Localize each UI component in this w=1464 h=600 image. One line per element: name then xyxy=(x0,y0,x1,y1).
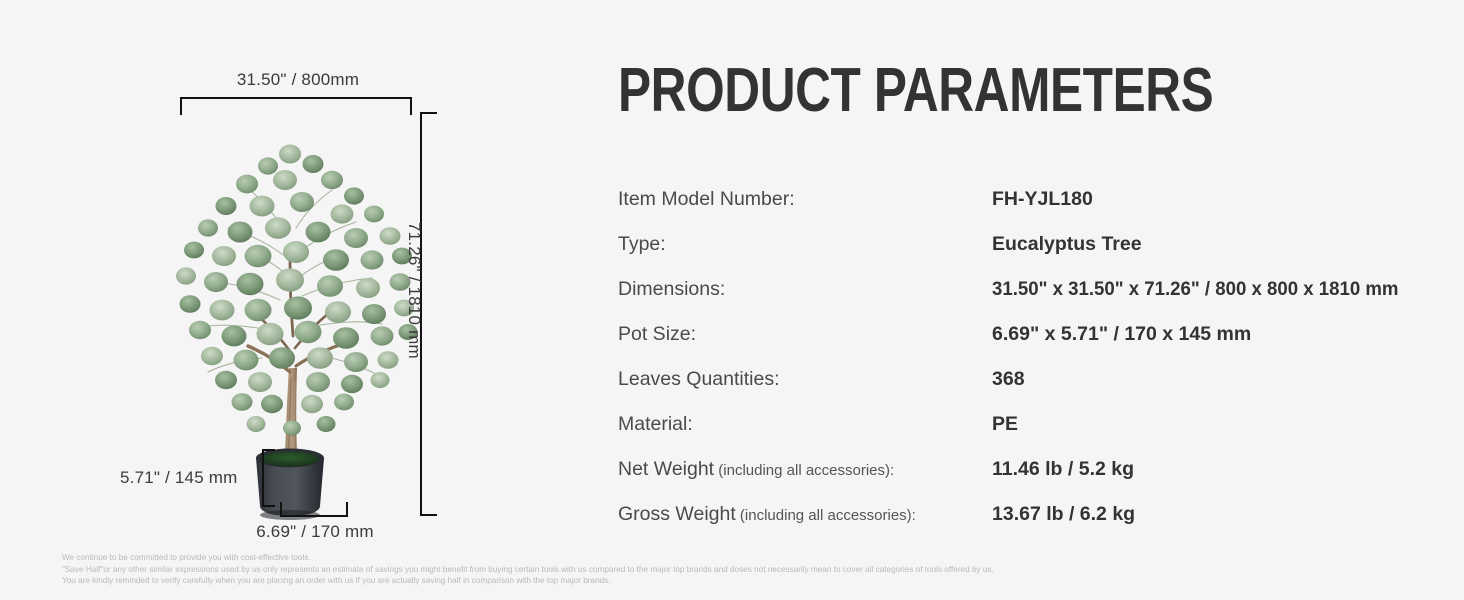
spec-label-text: Gross Weight xyxy=(618,503,736,525)
plant-pot xyxy=(256,449,324,521)
spec-label: Item Model Number: xyxy=(618,188,992,211)
tree-foliage xyxy=(176,145,418,436)
spec-label-text: Type: xyxy=(618,233,666,255)
spec-label: Net Weight (including all accessories): xyxy=(618,458,992,481)
spec-label-text: Material: xyxy=(618,413,693,435)
pot-width-bracket-left-cap xyxy=(280,502,282,517)
page-title: PRODUCT PARAMETERS xyxy=(618,60,1213,122)
product-image-panel: 31.50" / 800mm 71.26" / 1810 mm 5.71" / … xyxy=(0,0,600,600)
spec-row: Pot Size:6.69" x 5.71" / 170 x 145 mm xyxy=(618,323,1464,368)
spec-value: 31.50" x 31.50" x 71.26" / 800 x 800 x 1… xyxy=(992,278,1399,301)
pot-height-bracket-line xyxy=(262,449,264,507)
width-dimension-label: 31.50" / 800mm xyxy=(178,70,418,90)
width-bracket-right-cap xyxy=(410,97,412,115)
eucalyptus-tree-illustration xyxy=(150,110,440,520)
legal-disclaimer: We continue to be committed to provide y… xyxy=(62,552,1312,587)
spec-row: Gross Weight (including all accessories)… xyxy=(618,503,1464,548)
spec-value: PE xyxy=(992,413,1018,436)
pot-width-bracket-right-cap xyxy=(346,502,348,517)
spec-value: 11.46 lb / 5.2 kg xyxy=(992,458,1134,481)
height-bracket-bottom-cap xyxy=(420,514,437,516)
spec-label-note: (including all accessories): xyxy=(736,507,916,524)
spec-value: 13.67 lb / 6.2 kg xyxy=(992,503,1135,526)
spec-row: Material:PE xyxy=(618,413,1464,458)
spec-label-text: Leaves Quantities: xyxy=(618,368,780,390)
pot-height-bracket-bottom-cap xyxy=(262,505,275,507)
spec-label-text: Pot Size: xyxy=(618,323,696,345)
height-bracket-top-cap xyxy=(420,112,437,114)
spec-label: Type: xyxy=(618,233,992,256)
spec-label-text: Net Weight xyxy=(618,458,714,480)
pot-height-dimension-label: 5.71" / 145 mm xyxy=(120,468,238,488)
spec-row: Leaves Quantities:368 xyxy=(618,368,1464,413)
width-bracket-line xyxy=(180,97,412,99)
spec-label: Pot Size: xyxy=(618,323,992,346)
disclaimer-line-1: We continue to be committed to provide y… xyxy=(62,552,1312,564)
width-bracket-left-cap xyxy=(180,97,182,115)
spec-row: Dimensions:31.50" x 31.50" x 71.26" / 80… xyxy=(618,278,1464,323)
spec-label: Leaves Quantities: xyxy=(618,368,992,391)
spec-label-text: Item Model Number: xyxy=(618,188,795,210)
parameters-panel: PRODUCT PARAMETERS Item Model Number:FH-… xyxy=(600,0,1464,600)
spec-value: Eucalyptus Tree xyxy=(992,233,1142,256)
spec-label-text: Dimensions: xyxy=(618,278,725,300)
spec-row: Net Weight (including all accessories):1… xyxy=(618,458,1464,503)
spec-row: Type:Eucalyptus Tree xyxy=(618,233,1464,278)
spec-label: Dimensions: xyxy=(618,278,992,301)
spec-value: 6.69" x 5.71" / 170 x 145 mm xyxy=(992,323,1251,346)
spec-label: Gross Weight (including all accessories)… xyxy=(618,503,992,526)
specifications-table: Item Model Number:FH-YJL180Type:Eucalypt… xyxy=(618,188,1464,548)
pot-height-bracket-top-cap xyxy=(262,449,275,451)
spec-row: Item Model Number:FH-YJL180 xyxy=(618,188,1464,233)
spec-label-note: (including all accessories): xyxy=(714,462,894,479)
disclaimer-line-3: You are kindly reminded to verify carefu… xyxy=(62,575,1312,587)
pot-width-dimension-label: 6.69" / 170 mm xyxy=(205,522,425,542)
disclaimer-line-2: "Save Half"or any other similar expressi… xyxy=(62,564,1312,576)
product-parameters-page: 31.50" / 800mm 71.26" / 1810 mm 5.71" / … xyxy=(0,0,1464,600)
height-dimension-label: 71.26" / 1810 mm xyxy=(404,222,424,359)
spec-value: FH-YJL180 xyxy=(992,188,1093,211)
spec-value: 368 xyxy=(992,368,1025,391)
spec-label: Material: xyxy=(618,413,992,436)
pot-width-bracket-line xyxy=(280,515,348,517)
